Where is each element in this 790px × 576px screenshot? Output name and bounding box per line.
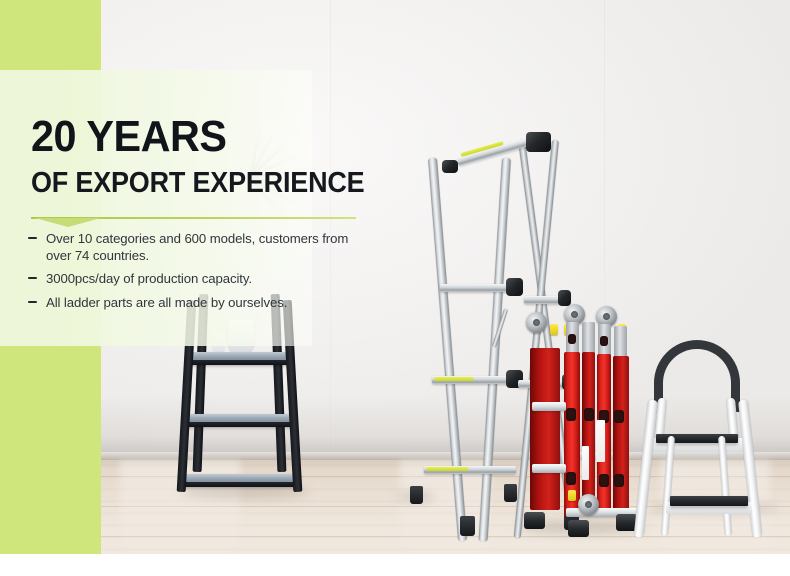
- shelf-rail: [188, 360, 292, 365]
- stool-leg: [738, 399, 762, 537]
- ladder-foot: [410, 486, 423, 504]
- ladder-red-rail: [530, 348, 560, 510]
- list-item: 3000pcs/day of production capacity.: [28, 271, 368, 288]
- dash-bullet-icon: [28, 277, 37, 279]
- ladder-vent-hole: [614, 474, 624, 487]
- ladder-foot: [568, 520, 589, 537]
- ladder-hinge: [578, 494, 599, 515]
- ladder-step-bracket: [506, 278, 523, 296]
- ladder-vent-hole: [600, 336, 608, 346]
- ladder-step-grip-strip: [434, 377, 474, 381]
- red-folding-ladder: [520, 300, 642, 538]
- ladder-vent-hole: [584, 408, 594, 421]
- ladder-vent-hole: [566, 472, 576, 485]
- step-stool: [646, 340, 782, 540]
- ladder-foot: [504, 484, 517, 502]
- warning-label: [582, 446, 589, 480]
- shelf-rail: [184, 422, 296, 427]
- ladder-top-hinge: [526, 132, 551, 152]
- ladder-foot: [460, 516, 475, 536]
- ladder-vent-hole: [566, 408, 576, 421]
- ladder-vent-hole: [614, 410, 624, 423]
- promo-banner: 20 YEARS OF EXPORT EXPERIENCE Over 10 ca…: [0, 0, 790, 576]
- dash-bullet-icon: [28, 237, 37, 239]
- page-subtitle: OF EXPORT EXPERIENCE: [31, 168, 422, 199]
- ladder-red-step: [532, 464, 566, 473]
- ladder-red-rail: [582, 352, 595, 516]
- page-title: 20 YEARS: [31, 114, 426, 160]
- ladder-red-rail: [613, 356, 629, 516]
- shelf-rail: [180, 482, 300, 487]
- list-item: Over 10 categories and 600 models, custo…: [28, 231, 368, 264]
- list-item-label: 3000pcs/day of production capacity.: [46, 271, 252, 286]
- list-item: All ladder parts are all made by ourselv…: [28, 295, 368, 312]
- ladder-red-step: [532, 402, 566, 411]
- list-item-label: Over 10 categories and 600 models, custo…: [46, 231, 348, 263]
- ladder-vent-hole: [568, 334, 576, 344]
- ladder-vent-hole: [599, 474, 609, 487]
- ladder-foot: [524, 512, 545, 529]
- ladder-hinge: [526, 312, 547, 333]
- locking-pin: [550, 324, 558, 335]
- list-item-label: All ladder parts are all made by ourselv…: [46, 295, 287, 310]
- headline-block: 20 YEARS OF EXPORT EXPERIENCE: [31, 114, 451, 199]
- divider: [31, 215, 356, 228]
- feature-list: Over 10 categories and 600 models, custo…: [28, 231, 368, 318]
- stool-tread: [670, 496, 748, 506]
- ladder-front-rail: [428, 158, 467, 542]
- dash-bullet-icon: [28, 301, 37, 303]
- warning-label: [596, 420, 605, 462]
- locking-pin: [568, 490, 576, 501]
- chevron-down-icon: [35, 218, 101, 227]
- ladder-step-grip-strip: [426, 467, 468, 471]
- ladder-step: [440, 284, 516, 292]
